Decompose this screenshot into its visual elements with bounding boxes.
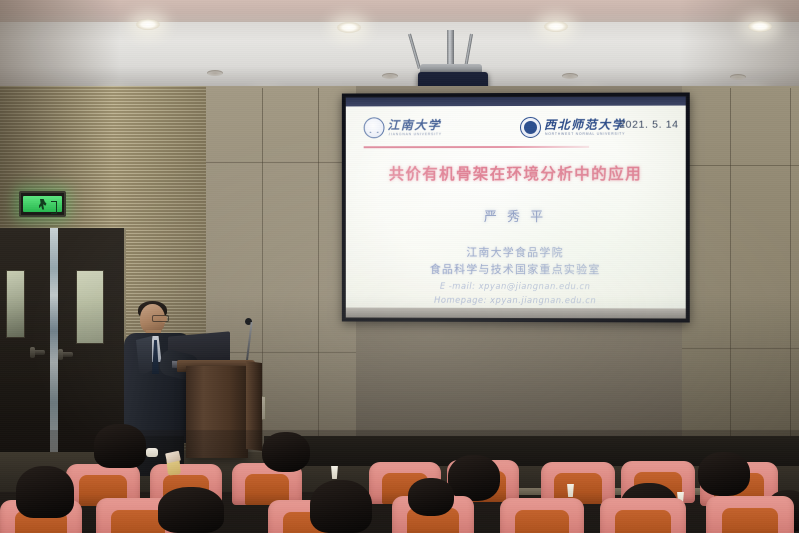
audience-member-head	[448, 455, 500, 501]
projection-screen: 江南大学 JIANGNAN UNIVERSITY 西北师范大学 NORTHWES…	[342, 92, 690, 322]
door-handle-stem	[58, 349, 63, 360]
glasses-icon	[152, 315, 169, 322]
door-handle-stem	[30, 347, 35, 358]
ceiling-downlight	[544, 21, 568, 32]
wall-seam	[790, 88, 791, 460]
seat-cushion	[515, 510, 569, 533]
ceiling-downlight	[337, 22, 361, 33]
screen-bezel	[342, 92, 690, 322]
right-wall-panel	[682, 86, 799, 466]
door-leaf-left[interactable]	[0, 228, 50, 452]
ceiling-sprinkler	[730, 74, 746, 80]
audience-member-head	[262, 432, 310, 472]
door-gap-light	[50, 228, 58, 452]
wall-seam	[206, 162, 356, 163]
auditorium-seat	[600, 498, 686, 533]
face-mask	[146, 448, 158, 457]
ceiling-shadow-left	[0, 0, 120, 92]
ceiling-sprinkler	[382, 73, 398, 79]
wall-seam	[682, 348, 799, 349]
audience-member-head	[16, 466, 74, 518]
exit-sign-glow	[23, 196, 62, 212]
door-window-right	[76, 270, 104, 344]
projector-pole	[447, 30, 454, 68]
audience-member-head	[408, 478, 454, 516]
audience-member-head	[310, 480, 372, 533]
exit-door-icon	[51, 201, 57, 214]
emergency-exit-sign	[19, 191, 66, 217]
door-handle-left[interactable]	[30, 350, 45, 355]
door-handle-right[interactable]	[58, 352, 73, 357]
audience-member-head	[698, 452, 750, 496]
seat-cushion	[111, 510, 165, 533]
seat-back	[500, 498, 584, 533]
ceiling-sprinkler	[562, 73, 578, 79]
running-person-icon	[39, 199, 47, 210]
ceiling-downlight	[136, 19, 160, 30]
lecture-hall-photo: 江南大学 JIANGNAN UNIVERSITY 西北师范大学 NORTHWES…	[0, 0, 799, 533]
audience-member-head	[158, 487, 224, 533]
seat-cushion	[615, 510, 670, 533]
audience-member-head	[94, 424, 146, 468]
auditorium-seat	[706, 496, 794, 533]
wall-seam	[682, 165, 799, 166]
seat-back	[600, 498, 686, 533]
door-window-left	[6, 270, 25, 338]
wall-seam	[730, 88, 731, 460]
wall-seam	[318, 88, 319, 460]
seat-cushion	[722, 508, 778, 533]
auditorium-seat	[500, 498, 584, 533]
entrance-doors[interactable]	[0, 228, 126, 452]
seat-back	[706, 496, 794, 533]
ceiling-downlight	[748, 21, 772, 32]
ceiling-sprinkler	[207, 70, 223, 76]
